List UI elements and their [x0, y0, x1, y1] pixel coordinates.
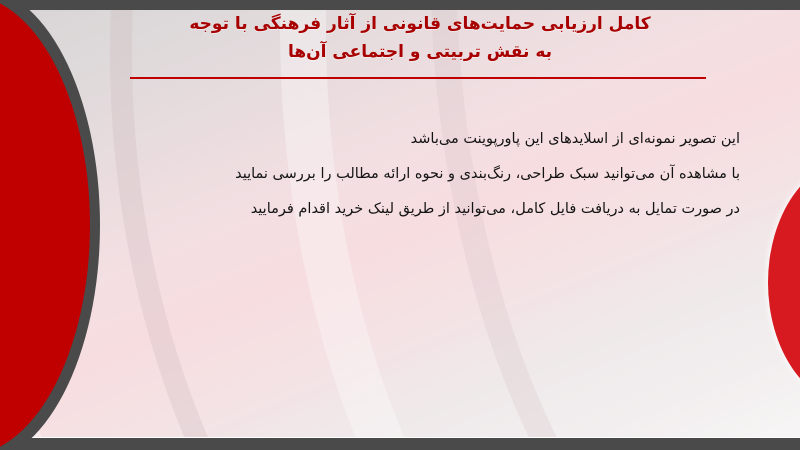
- right-red-circle-decoration: [768, 160, 800, 405]
- slide-body-line-2: با مشاهده آن می‌توانید سبک طراحی، رنگ‌بن…: [80, 157, 740, 192]
- slide-body-line-3: در صورت تمایل به دریافت فایل کامل، می‌تو…: [80, 192, 740, 227]
- slide-frame-bottom-bar: [0, 438, 800, 450]
- presentation-slide: کامل ارزیابی حمایت‌های قانونی از آثار فر…: [0, 0, 800, 450]
- slide-title-line-2: به نقش تربیتی و اجتماعی آن‌ها: [120, 38, 720, 66]
- slide-frame-top-bar: [0, 0, 800, 10]
- slide-body-line-1: این تصویر نمونه‌ای از اسلایدهای این پاور…: [80, 122, 740, 157]
- slide-title-line-1: کامل ارزیابی حمایت‌های قانونی از آثار فر…: [120, 10, 720, 38]
- title-divider-rule: [130, 77, 706, 79]
- slide-title: کامل ارزیابی حمایت‌های قانونی از آثار فر…: [120, 10, 720, 66]
- slide-body-text: این تصویر نمونه‌ای از اسلایدهای این پاور…: [80, 122, 740, 227]
